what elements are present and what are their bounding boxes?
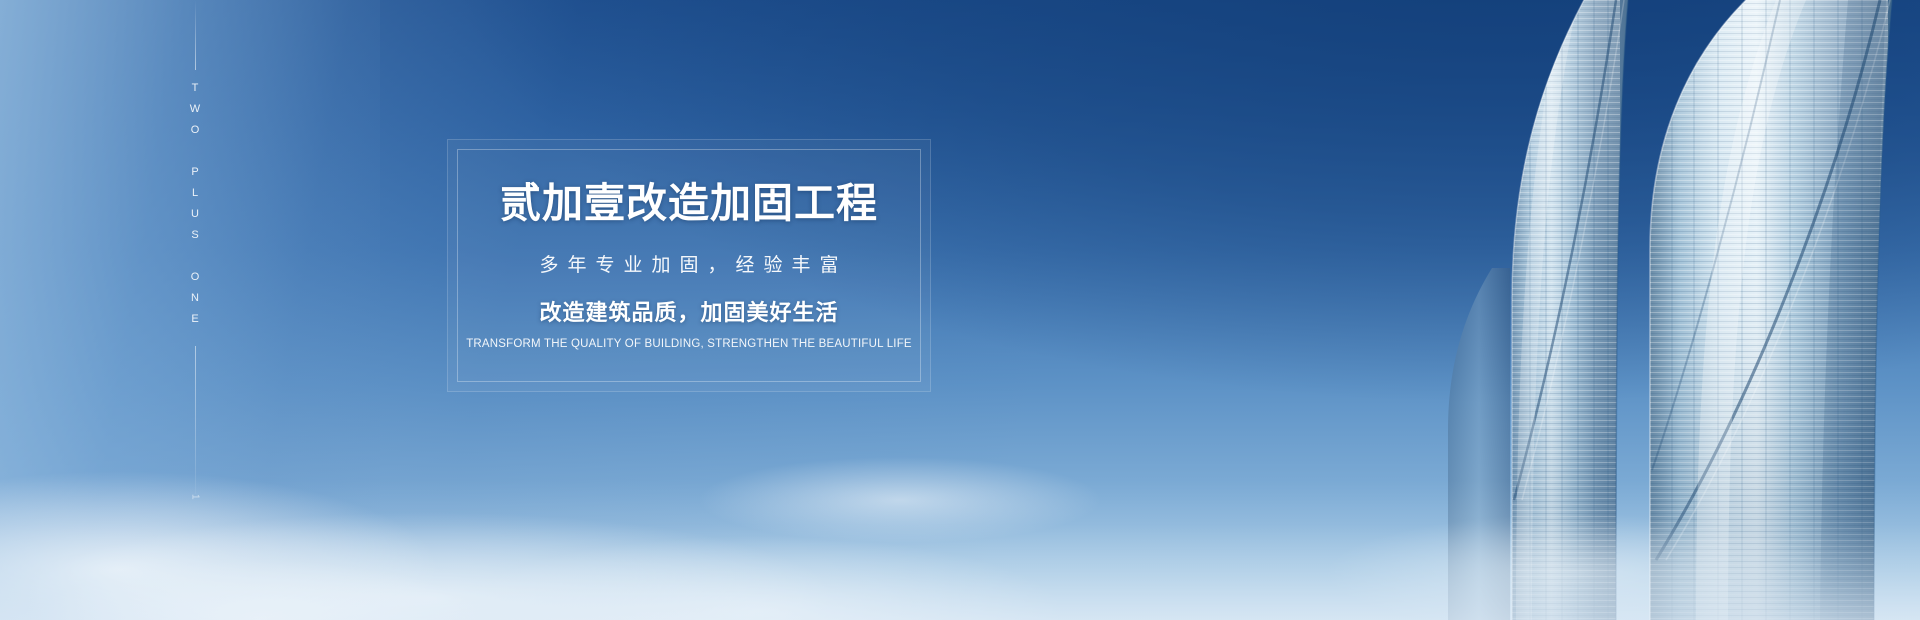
- brand-rule-bottom: [195, 346, 196, 494]
- cloud-wisp-center: [620, 410, 1180, 560]
- hero-text-panel: 贰加壹改造加固工程 多年专业加固，经验丰富 改造建筑品质，加固美好生活 TRAN…: [447, 139, 931, 392]
- hero-banner: TWO PLUS ONE 1 贰加壹改造加固工程 多年专业加固，经验丰富 改造建…: [0, 0, 1920, 620]
- cloud-wisp-right: [1280, 440, 1920, 620]
- slide-index-label: 1: [190, 494, 201, 620]
- sky-gradient-overlay: [0, 0, 1920, 620]
- hero-text-panel-inner-border: 贰加壹改造加固工程 多年专业加固，经验丰富 改造建筑品质，加固美好生活 TRAN…: [457, 149, 921, 382]
- hero-slogan: 改造建筑品质，加固美好生活: [539, 302, 838, 324]
- cloud-low-haze: [0, 480, 1920, 620]
- hero-headline: 贰加壹改造加固工程: [500, 183, 878, 224]
- brand-vertical-label: TWO PLUS ONE: [189, 70, 201, 346]
- tower-distant: [1448, 268, 1510, 620]
- hero-tagline-english: TRANSFORM THE QUALITY OF BUILDING, STREN…: [466, 339, 912, 351]
- hero-subtitle: 多年专业加固，经验丰富: [530, 256, 847, 275]
- tower-left: [1510, 0, 1628, 620]
- brand-vertical-strip: TWO PLUS ONE 1: [175, 0, 215, 620]
- tower-right: [1648, 0, 1892, 620]
- brand-rule-top: [195, 0, 196, 70]
- skyscraper-illustration: [1180, 0, 1920, 620]
